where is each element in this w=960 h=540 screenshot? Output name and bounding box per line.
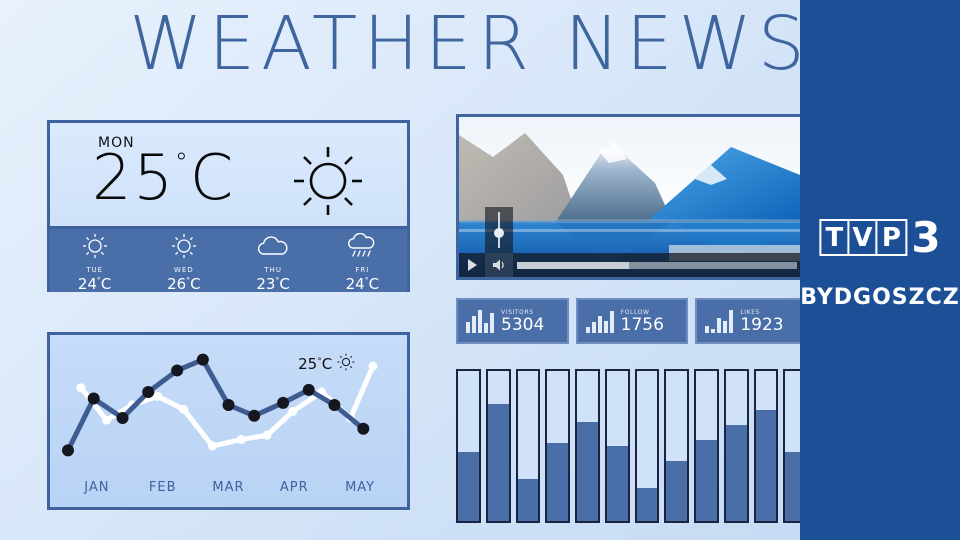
- line-point: [171, 364, 183, 376]
- line-point: [142, 386, 154, 398]
- stat-text: FOLLOW 1756: [621, 309, 664, 334]
- tvp-letter-v: V: [849, 221, 877, 254]
- vertical-bar-fill: [518, 479, 539, 521]
- sun-icon: [80, 233, 110, 265]
- mini-bar: [478, 310, 482, 333]
- month-label-may: MAY: [327, 480, 393, 495]
- forecast-cell-fri: FRI 24°C: [318, 229, 407, 292]
- stat-value: 1923: [740, 317, 783, 334]
- forecast-cell-tue: TUE 24°C: [50, 229, 139, 292]
- line-point: [357, 423, 369, 435]
- line-point: [76, 383, 85, 392]
- stat-value: 5304: [501, 317, 544, 334]
- line-point: [368, 362, 377, 371]
- rain-cloud-icon: [345, 233, 379, 265]
- forecast-cell-wed: WED 26°C: [139, 229, 228, 292]
- vertical-bar-fill: [577, 422, 598, 521]
- sun-icon: [291, 145, 365, 222]
- mini-bar: [598, 316, 602, 333]
- volume-icon[interactable]: [485, 253, 513, 277]
- play-icon[interactable]: [459, 253, 485, 277]
- vertical-bar-fill: [726, 425, 747, 521]
- month-label-apr: APR: [261, 480, 327, 495]
- forecast-temp-value: 24: [78, 275, 97, 293]
- stat-card-likes[interactable]: LIKES 1923: [695, 298, 808, 344]
- line-point: [328, 399, 340, 411]
- vertical-bar-fill: [637, 488, 658, 521]
- sun-icon: [169, 233, 199, 265]
- vertical-bar: [575, 369, 600, 523]
- vertical-bar: [664, 369, 689, 523]
- tvp-letter-p: P: [877, 221, 905, 254]
- mini-bar: [729, 310, 733, 333]
- stat-mini-bars: [705, 309, 733, 333]
- volume-slider[interactable]: [485, 207, 513, 253]
- vertical-bar: [605, 369, 630, 523]
- mini-bar: [484, 323, 488, 333]
- line-point: [303, 384, 315, 396]
- chart-annotation: 25°C: [298, 353, 355, 373]
- month-label-mar: MAR: [196, 480, 262, 495]
- sun-icon: [337, 355, 355, 373]
- mini-bar: [610, 311, 614, 333]
- mini-bar: [717, 318, 721, 333]
- mini-bar: [466, 322, 470, 333]
- weather-card: MON 25°C: [47, 120, 410, 292]
- mini-bar: [592, 322, 596, 333]
- mini-bar: [586, 327, 590, 333]
- month-axis: JAN FEB MAR APR MAY: [50, 480, 407, 495]
- mini-bar: [604, 321, 608, 333]
- forecast-temp-value: 26: [167, 275, 186, 293]
- line-point: [208, 442, 217, 451]
- stat-card-visitors[interactable]: VISITORS 5304: [456, 298, 569, 344]
- vertical-bar: [516, 369, 541, 523]
- line-series-dark: [68, 360, 363, 451]
- line-point: [197, 354, 209, 366]
- vertical-bar: [486, 369, 511, 523]
- stats-row: VISITORS 5304 FOLLOW 1756 LIKES 1923: [456, 298, 808, 344]
- stat-label: VISITORS: [501, 309, 534, 316]
- weather-temperature: 25°C: [92, 141, 235, 214]
- weather-degree-symbol: °: [175, 148, 190, 178]
- vertical-bar: [456, 369, 481, 523]
- stat-label: LIKES: [740, 309, 760, 316]
- video-progress-bar[interactable]: [517, 262, 797, 269]
- forecast-day-label: TUE: [86, 266, 103, 274]
- vertical-bar: [724, 369, 749, 523]
- forecast-temp: 23°C: [256, 275, 290, 293]
- line-point: [62, 444, 74, 456]
- cloud-icon: [256, 233, 290, 265]
- line-point: [237, 435, 246, 444]
- month-label-feb: FEB: [130, 480, 196, 495]
- forecast-temp: 24°C: [78, 275, 112, 293]
- weather-card-main: MON 25°C: [50, 123, 407, 229]
- chart-annot-unit: C: [322, 355, 332, 373]
- line-point: [277, 397, 289, 409]
- forecast-day-label: WED: [174, 266, 194, 274]
- forecast-temp-value: 23: [256, 275, 275, 293]
- vertical-bar-chart: [456, 369, 808, 523]
- vertical-bar-fill: [607, 446, 628, 521]
- stat-label: FOLLOW: [621, 309, 650, 316]
- vertical-bar-fill: [666, 461, 687, 521]
- forecast-unit: C: [279, 275, 289, 293]
- line-point: [88, 393, 100, 405]
- line-point: [288, 407, 297, 416]
- page-title-text: WEATHER NEWS: [129, 0, 811, 90]
- vertical-bar: [635, 369, 660, 523]
- line-point: [248, 410, 260, 422]
- video-player[interactable]: [456, 114, 808, 280]
- line-point: [153, 392, 162, 401]
- tvp-letter-boxes: T V P: [819, 219, 907, 256]
- brand-city-label: BYDGOSZCZ: [800, 285, 959, 310]
- forecast-cell-thu: THU 23°C: [229, 229, 318, 292]
- forecast-unit: C: [101, 275, 111, 293]
- forecast-unit: C: [369, 275, 379, 293]
- mini-bar: [711, 329, 715, 333]
- forecast-unit: C: [190, 275, 200, 293]
- month-label-jan: JAN: [64, 480, 130, 495]
- tvp-channel-number: 3: [911, 220, 940, 256]
- mini-bar: [723, 321, 727, 333]
- stat-mini-bars: [466, 309, 494, 333]
- brand-panel: T V P 3 BYDGOSZCZ: [800, 0, 960, 540]
- line-point: [223, 399, 235, 411]
- vertical-bar-fill: [458, 452, 479, 521]
- stat-mini-bars: [586, 309, 614, 333]
- stat-text: LIKES 1923: [740, 309, 783, 334]
- mini-bar: [472, 316, 476, 333]
- forecast-temp: 24°C: [346, 275, 380, 293]
- vertical-bar-fill: [488, 404, 509, 521]
- stat-text: VISITORS 5304: [501, 309, 544, 334]
- stat-card-follow[interactable]: FOLLOW 1756: [576, 298, 689, 344]
- line-point: [263, 431, 272, 440]
- vertical-bar: [545, 369, 570, 523]
- line-chart-panel: 25°C JAN FEB MAR APR MAY: [47, 332, 410, 510]
- vertical-bar: [694, 369, 719, 523]
- mini-bar: [490, 313, 494, 333]
- weather-temp-value: 25: [92, 141, 175, 214]
- line-point: [117, 412, 129, 424]
- video-controls: [459, 253, 805, 277]
- page-title: WEATHER NEWS: [0, 0, 800, 90]
- tvp-logo: T V P 3: [819, 219, 940, 256]
- vertical-bar: [754, 369, 779, 523]
- vertical-bar-fill: [696, 440, 717, 521]
- stat-value: 1756: [621, 317, 664, 334]
- forecast-temp-value: 24: [346, 275, 365, 293]
- vertical-bar-fill: [756, 410, 777, 521]
- forecast-temp: 26°C: [167, 275, 201, 293]
- forecast-row: TUE 24°C WED 26°C: [50, 229, 407, 292]
- video-progress-fill: [517, 262, 629, 269]
- volume-slider-knob[interactable]: [494, 228, 504, 238]
- forecast-day-label: FRI: [355, 266, 369, 274]
- line-point: [179, 405, 188, 414]
- forecast-day-label: THU: [264, 266, 282, 274]
- weather-unit: C: [190, 141, 235, 214]
- vertical-bar-fill: [547, 443, 568, 521]
- chart-annot-value: 25: [298, 355, 317, 373]
- tvp-letter-t: T: [821, 221, 849, 254]
- line-point: [102, 416, 111, 425]
- mini-bar: [705, 326, 709, 333]
